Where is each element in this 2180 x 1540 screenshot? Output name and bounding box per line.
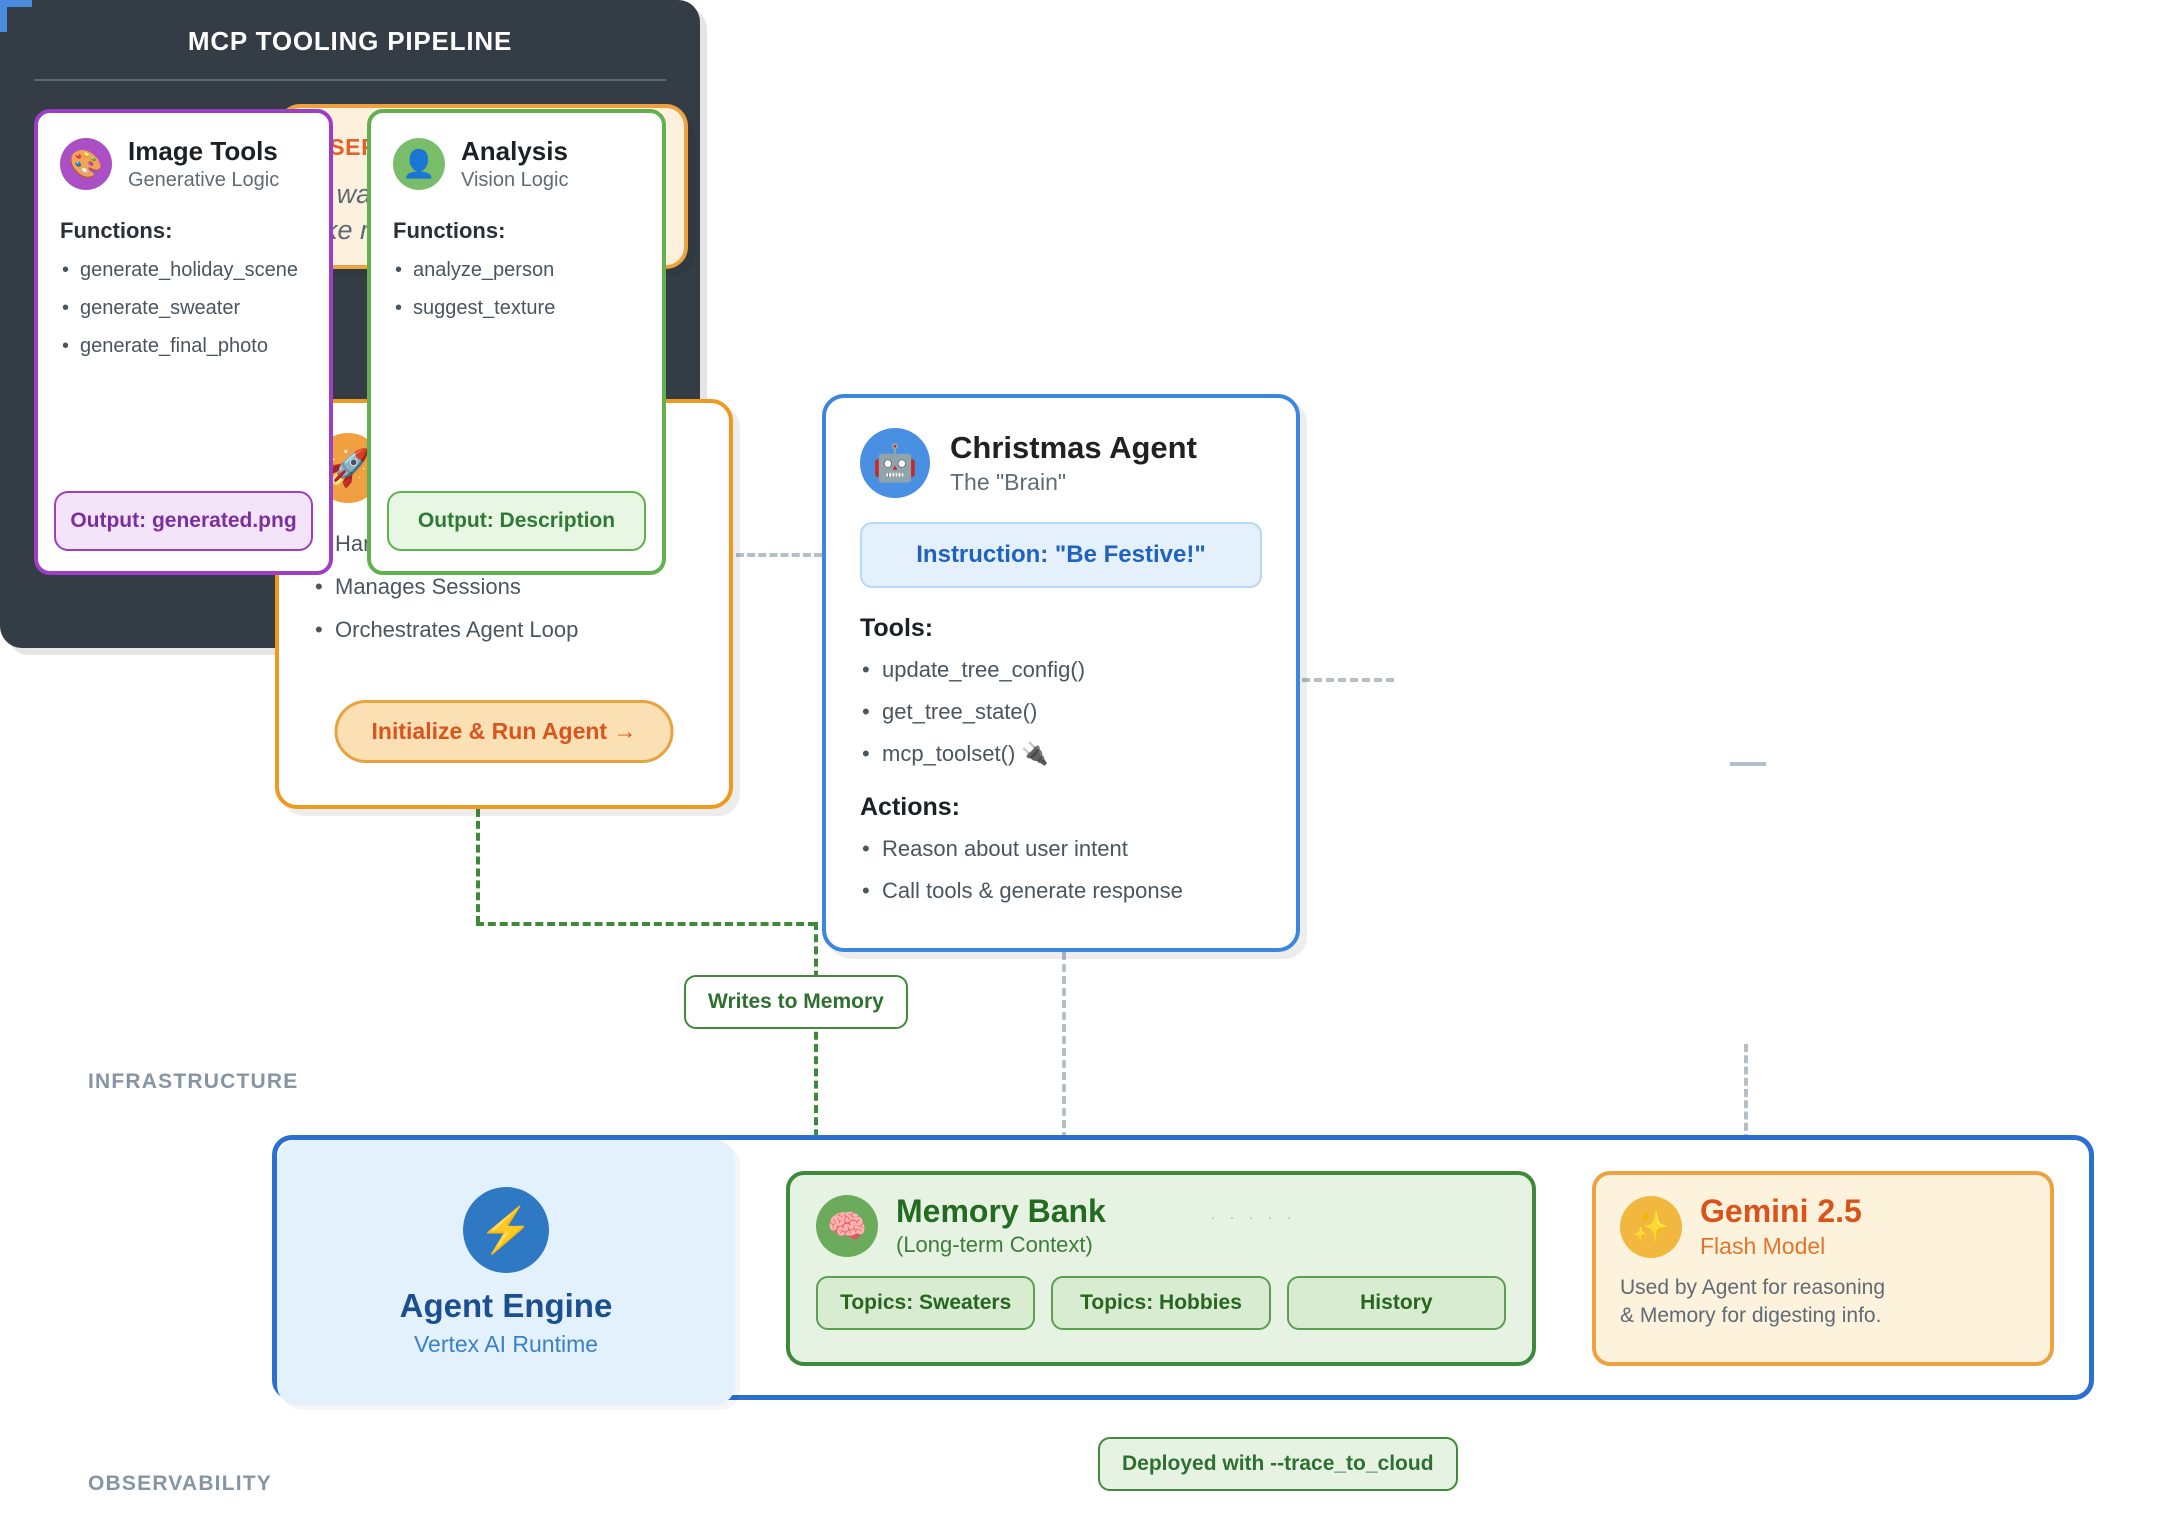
list-item: analyze_person xyxy=(393,258,640,282)
memory-bank-dots: · · · · · xyxy=(1210,1207,1296,1228)
agent-subtitle: The "Brain" xyxy=(950,469,1197,496)
connector-imagetools-to-analysis xyxy=(1730,762,1766,766)
agent-instruction-badge: Instruction: "Be Festive!" xyxy=(860,522,1262,588)
agent-tools-list: update_tree_config() get_tree_state() mc… xyxy=(860,657,1262,767)
list-item: Orchestrates Agent Loop xyxy=(313,617,695,644)
memory-bank-chip-row: Topics: Sweaters Topics: Hobbies History xyxy=(816,1276,1506,1330)
gemini-description-line2: & Memory for digesting info. xyxy=(1620,1304,1881,1327)
memory-chip-topics-hobbies[interactable]: Topics: Hobbies xyxy=(1051,1276,1270,1330)
gemini-description: Used by Agent for reasoning & Memory for… xyxy=(1620,1274,2026,1331)
agent-header: 🤖 Christmas Agent The "Brain" xyxy=(860,428,1262,498)
agent-tools-label: Tools: xyxy=(860,614,1262,643)
diagram-canvas: USER LAYER APPLICATION INFRASTRUCTURE OB… xyxy=(0,0,2180,1540)
mcp-title: MCP TOOLING PIPELINE xyxy=(34,26,666,79)
image-tools-subtitle: Generative Logic xyxy=(128,169,279,192)
initialize-run-agent-button[interactable]: Initialize & Run Agent → xyxy=(335,700,674,763)
list-item: mcp_toolset() 🔌 xyxy=(860,741,1262,768)
list-item: Reason about user intent xyxy=(860,836,1262,863)
brain-icon: 🧠 xyxy=(816,1195,878,1257)
list-item: Manages Sessions xyxy=(313,574,695,601)
mcp-divider xyxy=(34,79,666,81)
analysis-output-badge: Output: Description xyxy=(387,491,646,551)
badge-deployed-trace: Deployed with --trace_to_cloud xyxy=(1098,1437,1458,1491)
lightning-bolt-icon: ⚡ xyxy=(463,1187,549,1273)
connector-backend-down-green xyxy=(476,809,480,924)
analysis-card: 👤 Analysis Vision Logic Functions: analy… xyxy=(367,109,666,575)
corner-marker xyxy=(0,0,32,32)
analysis-subtitle: Vision Logic xyxy=(461,169,568,192)
agent-actions-list: Reason about user intent Call tools & ge… xyxy=(860,836,1262,905)
agent-engine-title: Agent Engine xyxy=(400,1287,613,1325)
analysis-header: 👤 Analysis Vision Logic xyxy=(393,137,640,192)
analysis-title: Analysis xyxy=(461,137,568,166)
agent-engine-subtitle: Vertex AI Runtime xyxy=(414,1331,598,1358)
image-tools-title: Image Tools xyxy=(128,137,279,166)
gemini-description-line1: Used by Agent for reasoning xyxy=(1620,1276,1885,1299)
agent-engine-card: ⚡ Agent Engine Vertex AI Runtime xyxy=(277,1140,735,1405)
image-tools-header: 🎨 Image Tools Generative Logic xyxy=(60,137,307,192)
gemini-card: ✨ Gemini 2.5 Flash Model Used by Agent f… xyxy=(1592,1171,2054,1366)
connector-mcp-to-gemini xyxy=(1744,1044,1748,1142)
agent-actions-label: Actions: xyxy=(860,793,1262,822)
memory-chip-history[interactable]: History xyxy=(1287,1276,1506,1330)
list-item: Call tools & generate response xyxy=(860,878,1262,905)
gemini-subtitle: Flash Model xyxy=(1700,1233,1862,1260)
analysis-function-list: analyze_person suggest_texture xyxy=(393,258,640,320)
list-item: generate_sweater xyxy=(60,296,307,320)
christmas-agent-card: 🤖 Christmas Agent The "Brain" Instructio… xyxy=(822,394,1300,952)
robot-icon: 🤖 xyxy=(860,428,930,498)
analysis-functions-label: Functions: xyxy=(393,218,640,244)
connector-agent-to-infra xyxy=(1062,952,1066,1140)
memory-bank-subtitle: (Long-term Context) xyxy=(896,1232,1106,1258)
sparkle-icon: ✨ xyxy=(1620,1196,1682,1258)
person-icon: 👤 xyxy=(393,138,445,190)
connector-agent-to-mcp xyxy=(1302,678,1394,682)
palette-icon: 🎨 xyxy=(60,138,112,190)
connector-backend-right-green xyxy=(476,922,816,926)
list-item: generate_final_photo xyxy=(60,334,307,358)
image-tools-card: 🎨 Image Tools Generative Logic Functions… xyxy=(34,109,333,575)
memory-bank-card: 🧠 Memory Bank (Long-term Context) · · · … xyxy=(786,1171,1536,1366)
list-item: generate_holiday_scene xyxy=(60,258,307,282)
badge-writes-to-memory: Writes to Memory xyxy=(684,975,908,1029)
connector-backend-to-agent xyxy=(736,553,822,557)
image-tools-functions-label: Functions: xyxy=(60,218,307,244)
list-item: update_tree_config() xyxy=(860,657,1262,684)
image-tools-output-badge: Output: generated.png xyxy=(54,491,313,551)
list-item: get_tree_state() xyxy=(860,699,1262,726)
memory-chip-topics-sweaters[interactable]: Topics: Sweaters xyxy=(816,1276,1035,1330)
gemini-title: Gemini 2.5 xyxy=(1700,1195,1862,1229)
memory-bank-title: Memory Bank xyxy=(896,1195,1106,1229)
layer-label-infrastructure: INFRASTRUCTURE xyxy=(88,1070,298,1094)
agent-title: Christmas Agent xyxy=(950,430,1197,466)
list-item: suggest_texture xyxy=(393,296,640,320)
image-tools-function-list: generate_holiday_scene generate_sweater … xyxy=(60,258,307,358)
layer-label-observability: OBSERVABILITY xyxy=(88,1472,272,1496)
memory-bank-header: 🧠 Memory Bank (Long-term Context) xyxy=(816,1195,1506,1258)
gemini-header: ✨ Gemini 2.5 Flash Model xyxy=(1620,1195,2026,1260)
